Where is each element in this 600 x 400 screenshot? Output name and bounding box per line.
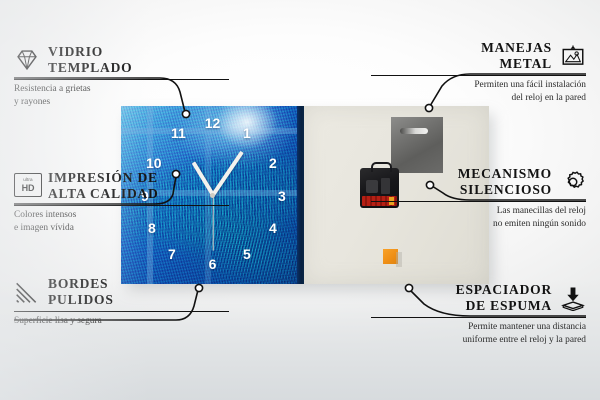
feature-manejas-metal: MANEJASMETAL Permiten una fácil instalac… bbox=[371, 40, 586, 104]
down-arrow-pad-icon bbox=[560, 285, 586, 311]
feature-header: ultra HD IMPRESIÓN DEALTA CALIDAD bbox=[14, 170, 229, 203]
feature-title: ESPACIADORDE ESPUMA bbox=[456, 282, 552, 315]
feature-header: BORDESPULIDOS bbox=[14, 276, 229, 309]
feature-divider bbox=[371, 201, 586, 202]
feature-divider bbox=[371, 317, 586, 318]
feature-mecanismo-silencioso: MECANISMOSILENCIOSO Las manecillas del r… bbox=[371, 166, 586, 230]
clock-number: 7 bbox=[168, 247, 176, 261]
feature-title: MECANISMOSILENCIOSO bbox=[458, 166, 552, 199]
feature-subtitle: Permiten una fácil instalacióndel reloj … bbox=[371, 79, 586, 104]
feature-divider bbox=[14, 311, 229, 312]
feature-divider bbox=[14, 79, 229, 80]
feature-title: MANEJASMETAL bbox=[481, 40, 552, 73]
feature-subtitle: Resistencia a grietasy rayones bbox=[14, 83, 229, 108]
hanging-frame-icon bbox=[560, 43, 586, 69]
clock-number: 2 bbox=[269, 156, 277, 170]
clock-number: 11 bbox=[171, 126, 186, 140]
clock-number: 4 bbox=[269, 221, 277, 235]
feature-header: ESPACIADORDE ESPUMA bbox=[371, 282, 586, 315]
glass-edge bbox=[297, 106, 304, 284]
feature-header: MECANISMOSILENCIOSO bbox=[371, 166, 586, 199]
metal-hanger-plate bbox=[391, 117, 443, 173]
feature-title: BORDESPULIDOS bbox=[48, 276, 114, 309]
ultra-hd-icon: ultra HD bbox=[14, 173, 40, 199]
hanger-slot bbox=[400, 128, 428, 134]
feature-title: IMPRESIÓN DEALTA CALIDAD bbox=[48, 170, 159, 203]
clock-number: 10 bbox=[146, 156, 162, 170]
feature-subtitle: Permite mantener una distanciauniforme e… bbox=[371, 321, 586, 346]
polished-edge-icon bbox=[14, 279, 40, 305]
feature-vidrio-templado: VIDRIOTEMPLADO Resistencia a grietasy ra… bbox=[14, 44, 229, 108]
gear-icon bbox=[560, 169, 586, 195]
feature-divider bbox=[371, 75, 586, 76]
feature-header: VIDRIOTEMPLADO bbox=[14, 44, 229, 77]
clock-number: 5 bbox=[243, 247, 251, 261]
infographic-canvas: 12 1 2 3 4 5 6 7 8 9 10 11 bbox=[0, 0, 600, 400]
clock-number: 6 bbox=[209, 257, 217, 271]
feature-title: VIDRIOTEMPLADO bbox=[48, 44, 132, 77]
feature-subtitle: Colores intensose imagen vívida bbox=[14, 209, 229, 234]
foam-spacer bbox=[383, 249, 398, 264]
feature-subtitle: Superficie lisa y segura bbox=[14, 315, 229, 327]
clock-number: 12 bbox=[205, 116, 221, 130]
diamond-icon bbox=[14, 47, 40, 73]
clock-number: 1 bbox=[243, 126, 251, 140]
feature-subtitle: Las manecillas del relojno emiten ningún… bbox=[371, 205, 586, 230]
feature-impresion-alta-calidad: ultra HD IMPRESIÓN DEALTA CALIDAD Colore… bbox=[14, 170, 229, 234]
feature-bordes-pulidos: BORDESPULIDOS Superficie lisa y segura bbox=[14, 276, 229, 328]
clock-number: 3 bbox=[278, 189, 286, 203]
feature-espaciador-espuma: ESPACIADORDE ESPUMA Permite mantener una… bbox=[371, 282, 586, 346]
feature-header: MANEJASMETAL bbox=[371, 40, 586, 73]
feature-divider bbox=[14, 205, 229, 206]
